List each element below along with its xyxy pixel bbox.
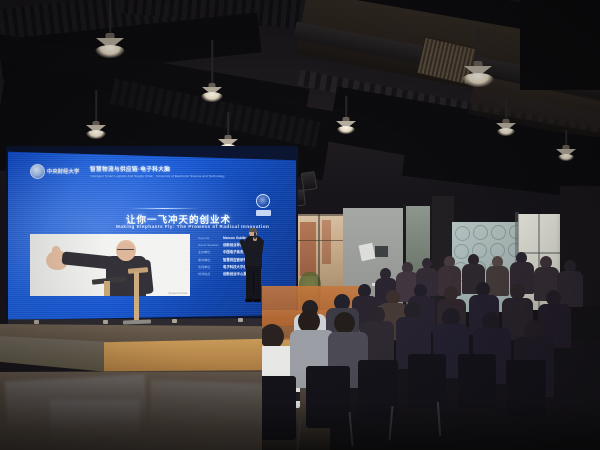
sponsor-logo [256, 194, 271, 216]
stage-uplight [34, 320, 39, 324]
organization-logo: 中央财经大学 [30, 164, 79, 179]
photo-caption: Speaker Portrait [168, 292, 187, 295]
conference-hall-photo: 中央财经大学 智慧物流与供应链·电子科大脑 Intelligent Smart … [0, 0, 600, 450]
hanging-loudspeaker [301, 171, 318, 191]
speaker-photo: Speaker Portrait [30, 234, 190, 296]
agenda-key: 时间地点 [198, 271, 220, 276]
agenda-key: Guest Speaker [198, 243, 220, 247]
slide-title-en: Making Elephants Fly: The Prowess of Rad… [116, 224, 269, 229]
agenda-key: Keynote [198, 236, 220, 240]
agenda-key: 主办单位 [198, 249, 220, 254]
event-header-en: Intelligent Smart Logistics And Supply C… [90, 174, 225, 178]
stage-uplight [103, 320, 108, 324]
stage-uplight [238, 318, 243, 322]
university-emblem-icon [30, 164, 45, 179]
stage-side-face [0, 336, 108, 372]
event-header-cn: 智慧物流与供应链·电子科大脑 [90, 165, 170, 173]
agenda-key: 承办单位 [198, 257, 220, 262]
sponsor-bar-icon [256, 210, 271, 216]
sponsor-circle-icon [256, 194, 270, 208]
stage-uplight [172, 319, 177, 323]
agenda-key: 支持单位 [198, 264, 220, 269]
seated-audience [262, 250, 600, 450]
organization-name: 中央财经大学 [47, 168, 79, 175]
